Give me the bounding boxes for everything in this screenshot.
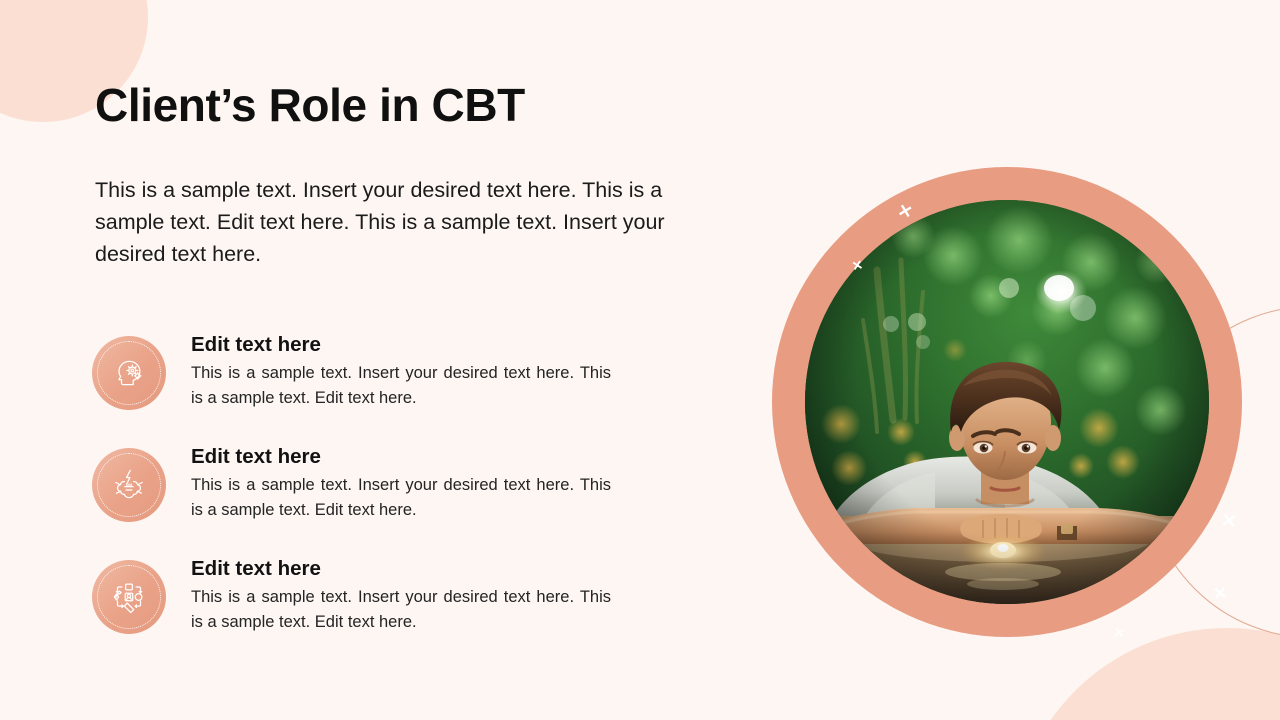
list-item-heading: Edit text here <box>191 556 611 582</box>
intro-paragraph: This is a sample text. Insert your desir… <box>95 174 715 270</box>
list-item[interactable]: Edit text here This is a sample text. In… <box>92 332 652 410</box>
bullet-list: Edit text here This is a sample text. In… <box>92 332 652 634</box>
page-title: Client’s Role in CBT <box>95 78 525 132</box>
person-process-cycle-icon <box>92 560 166 634</box>
list-item-heading: Edit text here <box>191 332 611 358</box>
slide-canvas: Client’s Role in CBT This is a sample te… <box>0 0 1280 720</box>
sparkle-cross-icon: ✕ <box>1113 625 1126 640</box>
list-item[interactable]: Edit text here This is a sample text. In… <box>92 444 652 522</box>
decorative-circle-bottom-right <box>1012 628 1280 720</box>
young-man-resting-chin-on-arms-photo <box>805 200 1209 604</box>
sparkle-cross-icon: ✕ <box>1220 511 1238 532</box>
list-item-body: This is a sample text. Insert your desir… <box>191 361 611 410</box>
list-item-text: Edit text here This is a sample text. In… <box>191 444 611 522</box>
list-item-body: This is a sample text. Insert your desir… <box>191 473 611 522</box>
brain-lightning-icon <box>92 448 166 522</box>
head-with-gears-icon <box>92 336 166 410</box>
list-item-text: Edit text here This is a sample text. In… <box>191 556 611 634</box>
list-item-heading: Edit text here <box>191 444 611 470</box>
photo-circle-frame <box>772 167 1242 637</box>
sparkle-cross-icon: ✕ <box>1212 584 1228 602</box>
list-item-text: Edit text here This is a sample text. In… <box>191 332 611 410</box>
list-item[interactable]: Edit text here This is a sample text. In… <box>92 556 652 634</box>
list-item-body: This is a sample text. Insert your desir… <box>191 585 611 634</box>
